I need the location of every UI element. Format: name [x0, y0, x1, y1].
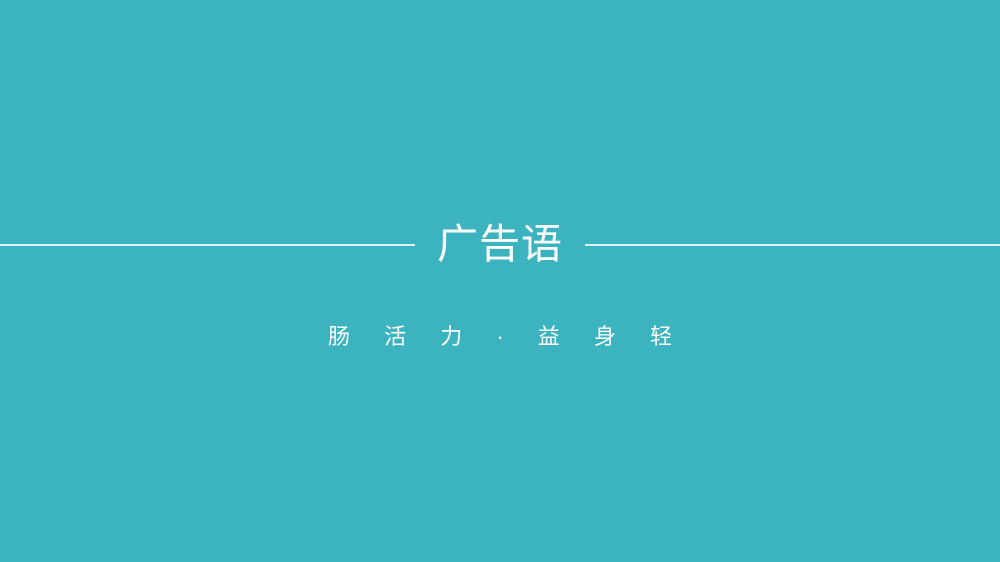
slide-title-text: 广告语	[437, 216, 563, 272]
slide-subtitle-text: 肠 活 力 · 益 身 轻	[314, 322, 686, 352]
slide-title: 广告语	[0, 216, 1000, 272]
slide-subtitle: 肠 活 力 · 益 身 轻	[0, 322, 1000, 352]
slide-canvas: 广告语 肠 活 力 · 益 身 轻	[0, 0, 1000, 562]
